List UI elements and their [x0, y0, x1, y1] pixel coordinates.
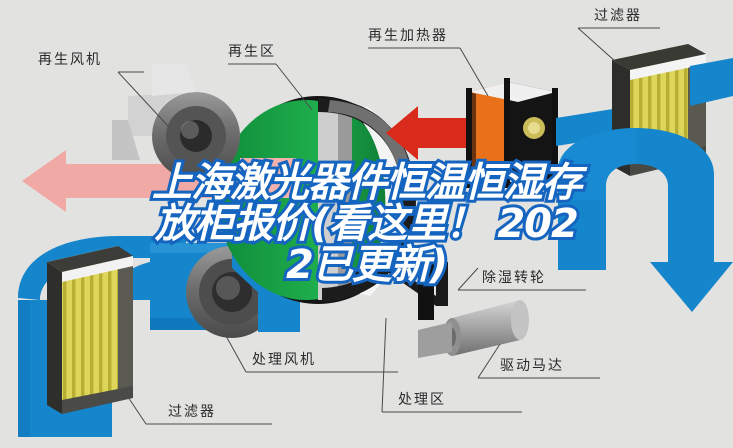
callout-drive-motor: 驱动马达	[500, 358, 564, 376]
callout-process-fan: 处理风机	[252, 352, 316, 370]
callout-regen-heater: 再生加热器	[368, 28, 448, 46]
regeneration-heater-body	[466, 78, 558, 190]
callout-process-zone: 处理区	[398, 392, 446, 410]
filter-bottom-body	[47, 246, 133, 414]
callout-filter-bottom: 过滤器	[168, 404, 216, 422]
callout-filter-top: 过滤器	[594, 8, 642, 26]
callout-regen-fan: 再生风机	[38, 52, 102, 70]
callout-regen-zone: 再生区	[228, 44, 276, 62]
diagram-canvas: 再生风机 再生区 再生加热器 过滤器 除湿转轮 驱动马达 处理风机 处理区 过滤…	[0, 0, 733, 448]
callout-desiccant-rotor: 除湿转轮	[482, 270, 546, 288]
dehumidifier-illustration	[0, 0, 733, 448]
